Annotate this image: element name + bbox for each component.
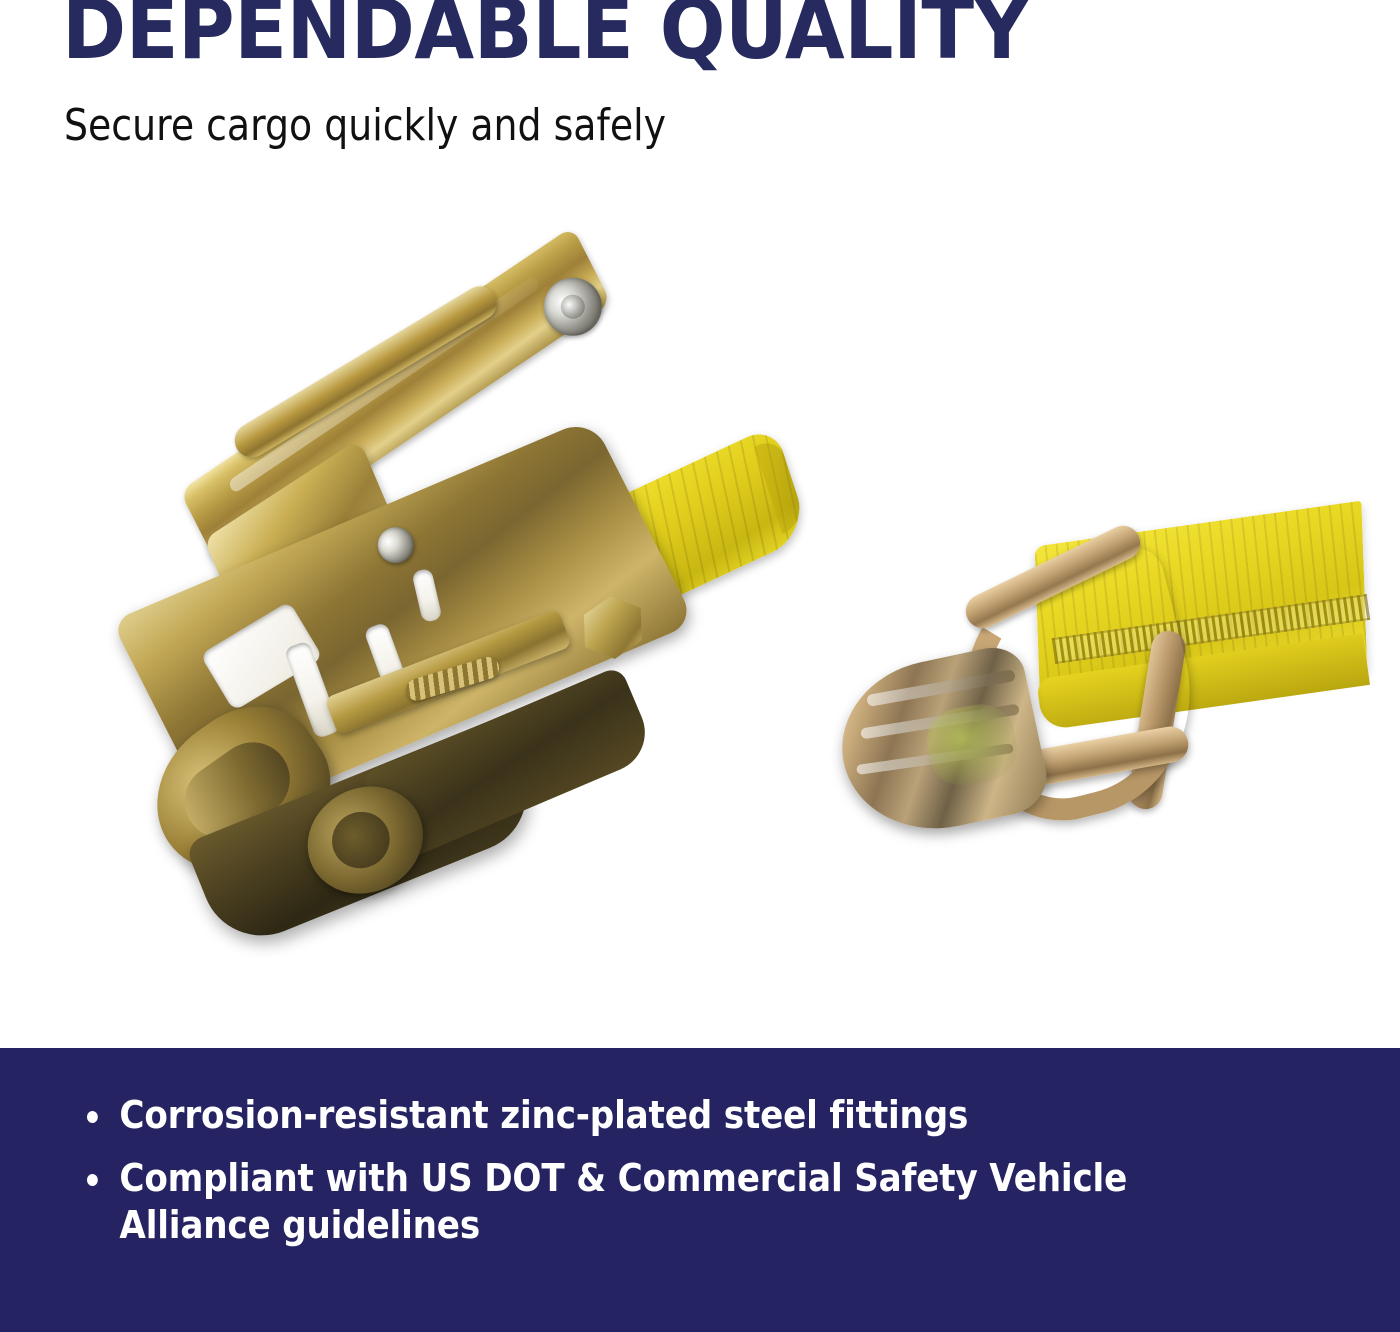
bullet-dot-icon	[87, 1174, 98, 1186]
list-item: Compliant with US DOT & Commercial Safet…	[78, 1155, 1212, 1249]
product-photo	[0, 180, 1400, 1048]
feature-text: Corrosion-resistant zinc-plated steel fi…	[119, 1093, 968, 1137]
double-j-hook-image	[840, 510, 1360, 910]
product-feature-panel: DEPENDABLE QUALITY Secure cargo quickly …	[0, 0, 1400, 1332]
feature-list: Corrosion-resistant zinc-plated steel fi…	[78, 1092, 1338, 1249]
bullet-dot-icon	[87, 1111, 98, 1123]
feature-bar: Corrosion-resistant zinc-plated steel fi…	[0, 1048, 1400, 1332]
header-block: DEPENDABLE QUALITY Secure cargo quickly …	[0, 0, 1400, 180]
page-title: DEPENDABLE QUALITY	[62, 0, 1029, 71]
ratchet-buckle-group	[0, 204, 894, 1030]
ratchet-buckle-image	[95, 335, 815, 895]
feature-text: Compliant with US DOT & Commercial Safet…	[119, 1156, 1127, 1247]
page-subtitle: Secure cargo quickly and safely	[64, 104, 666, 148]
list-item: Corrosion-resistant zinc-plated steel fi…	[78, 1092, 1212, 1139]
